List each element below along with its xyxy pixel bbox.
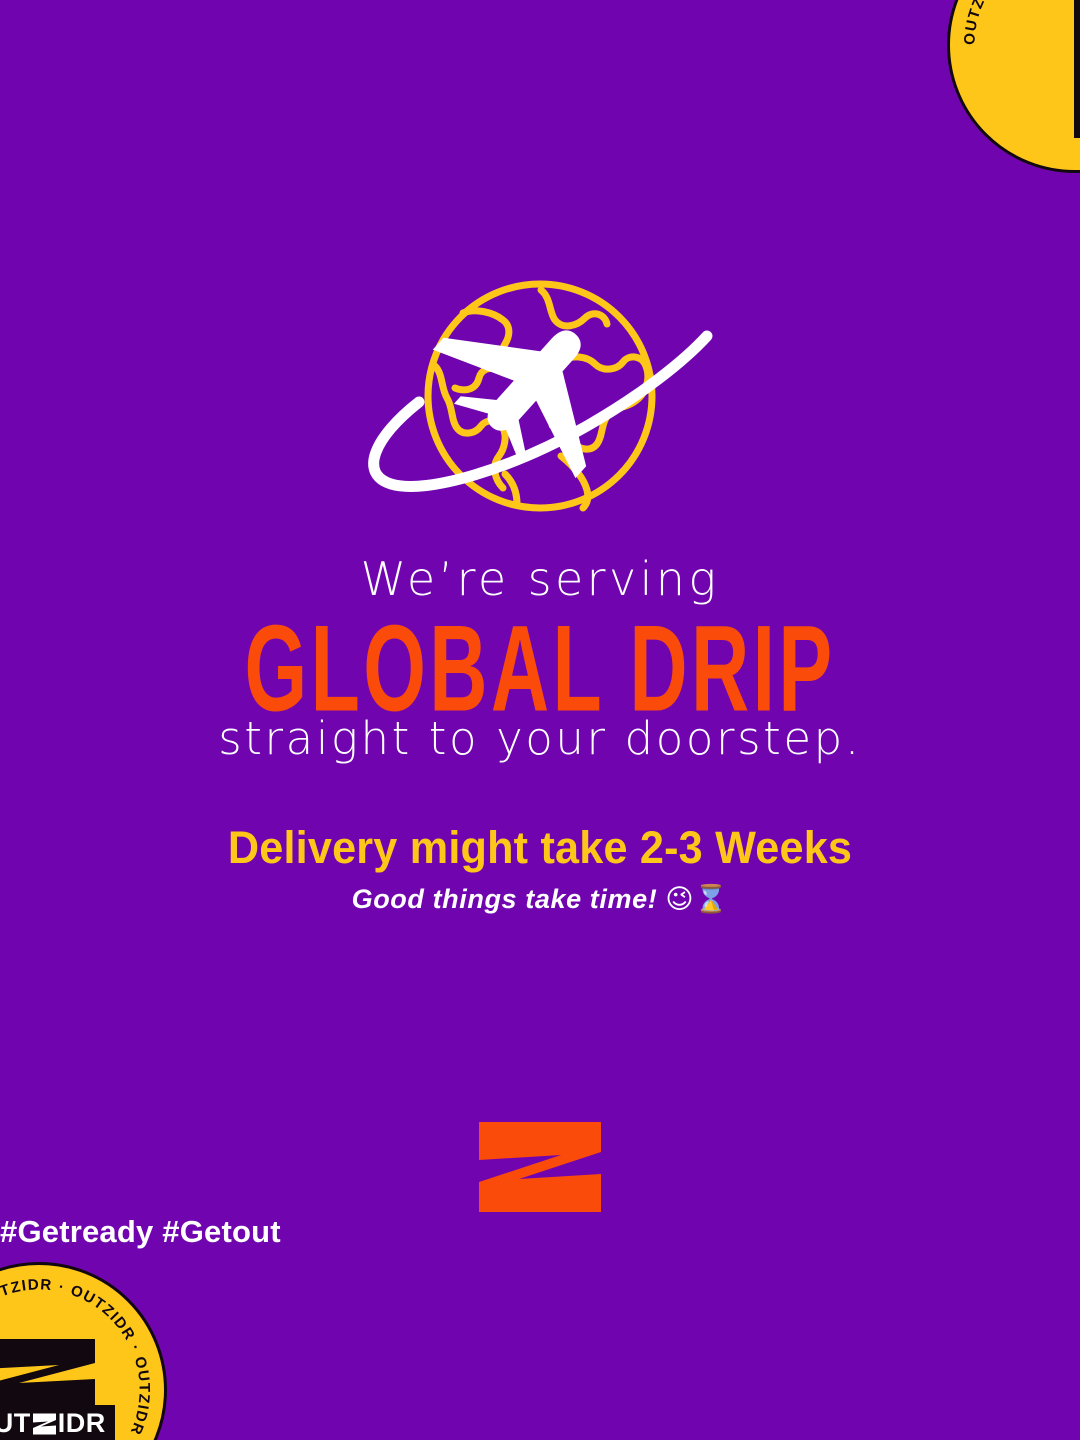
- globe-with-airplane-icon: [355, 278, 725, 518]
- badge-wordmark-z-icon: [32, 1413, 57, 1435]
- badge-z-icon: [0, 1337, 99, 1411]
- poster-canvas: OUTZIDR · OUTZIDR · OUTZIDR · OUTZIDR · …: [0, 0, 1080, 1440]
- badge-wordmark-prefix: OUT: [0, 1410, 31, 1437]
- badge-wordmark: OUT IDR: [0, 1337, 115, 1440]
- tagline-label: Good things take time!: [352, 884, 658, 914]
- kicker-text: We’re serving: [0, 556, 1080, 602]
- footer-logo: [0, 1122, 1080, 1212]
- badge-ring-text: OUTZIDR · OUTZIDR · OUTZIDR · OUTZIDR ·: [950, 0, 1080, 170]
- svg-text:OUTZIDR · OUTZIDR · OUTZIDR ·: OUTZIDR · OUTZIDR · OUTZIDR · OUTZIDR ·: [961, 0, 1080, 105]
- subline-text: straight to your doorstep.: [0, 716, 1080, 761]
- badge-ring-label: OUTZIDR · OUTZIDR · OUTZIDR · OUTZIDR ·: [961, 0, 1080, 105]
- delivery-notice-text: Delivery might take 2-3 Weeks: [22, 822, 1059, 874]
- badge-wordmark-bar: OUT IDR: [0, 1405, 115, 1440]
- tagline-text: Good things take time! 😉⌛: [0, 883, 1080, 916]
- outzidr-z-logo-icon: [479, 1122, 601, 1212]
- outzidr-seal-bottom-left: OUTZIDR · OUTZIDR · OUTZIDR · OUTZIDR · …: [0, 1262, 167, 1440]
- badge-big-letter-icon: [1068, 0, 1080, 146]
- tagline-emoji: 😉⌛: [665, 884, 728, 915]
- outzidr-seal-top-right: OUTZIDR · OUTZIDR · OUTZIDR · OUTZIDR ·: [947, 0, 1080, 173]
- badge-wordmark-suffix: IDR: [58, 1410, 106, 1437]
- hashtags-text: #Getready #Getout: [0, 1216, 1080, 1247]
